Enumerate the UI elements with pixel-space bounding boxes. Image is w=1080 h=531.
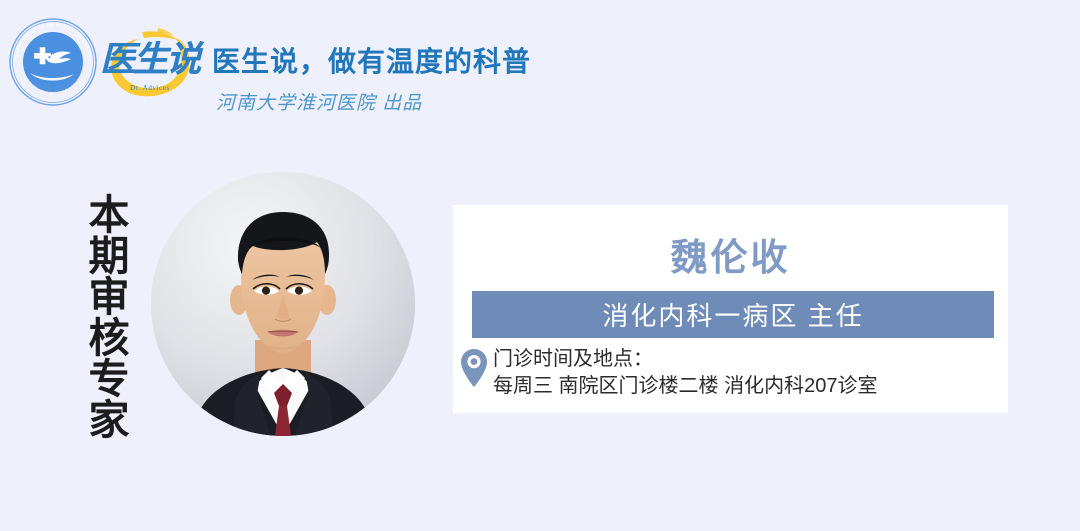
doctor-info-card: 魏伦收 消化内科一病区 主任 门诊时间及地点： 每周三 南院区门诊楼二楼 消化内… bbox=[453, 205, 1008, 413]
clinic-detail: 每周三 南院区门诊楼二楼 消化内科207诊室 bbox=[493, 373, 877, 400]
doctor-portrait bbox=[151, 172, 415, 436]
logo-text-en: Dr. Advices bbox=[98, 84, 202, 92]
dr-advices-logo: 医生说 Dr. Advices bbox=[98, 22, 202, 110]
page-title: 医生说，做有温度的科普 bbox=[212, 40, 531, 80]
header-bar: HUAIHE HOSPITAL OF HENAN UNIVERSITY 1955… bbox=[0, 0, 1080, 132]
hospital-emblem-icon: HUAIHE HOSPITAL OF HENAN UNIVERSITY 1955… bbox=[8, 17, 98, 107]
logo-text-cn: 医生说 bbox=[100, 42, 200, 77]
clinic-info-block: 门诊时间及地点： 每周三 南院区门诊楼二楼 消化内科207诊室 bbox=[459, 346, 1004, 400]
page-subtitle: 河南大学淮河医院 出品 bbox=[216, 88, 422, 115]
doctor-title-text: 消化内科一病区 主任 bbox=[602, 296, 863, 333]
doctor-title-band: 消化内科一病区 主任 bbox=[472, 291, 994, 338]
doctor-name: 魏伦收 bbox=[453, 227, 1008, 281]
clinic-text: 门诊时间及地点： 每周三 南院区门诊楼二楼 消化内科207诊室 bbox=[493, 346, 877, 400]
section-vertical-label: 本期审核专家 bbox=[74, 182, 126, 450]
clinic-label: 门诊时间及地点： bbox=[493, 346, 877, 373]
location-pin-icon bbox=[459, 347, 489, 389]
svg-text:1955: 1955 bbox=[48, 70, 58, 75]
